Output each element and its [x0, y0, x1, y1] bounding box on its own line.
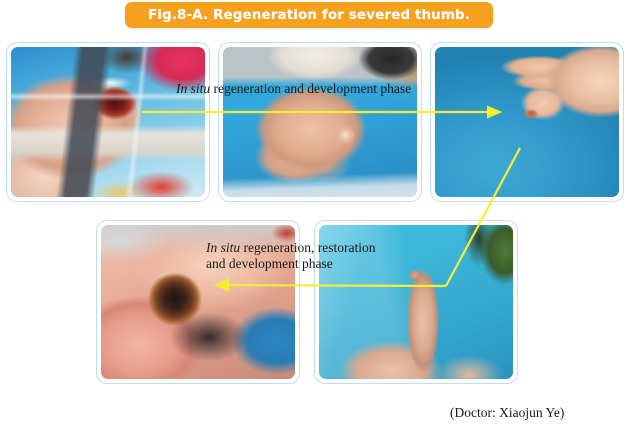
annotation-top: In situ regeneration and development pha…: [176, 81, 411, 97]
annotation-top-italic: In situ: [176, 81, 210, 96]
panel-2-image-container: [223, 47, 417, 197]
photo-healed-thumb-with-nail: [435, 47, 619, 197]
page-title: Fig.8-A. Regeneration for severed thumb.: [148, 7, 470, 23]
annotation-bottom-line2: and development phase: [206, 256, 333, 271]
figure-panel-1: [6, 42, 210, 202]
doctor-credit: (Doctor: Xiaojun Ye): [450, 405, 564, 421]
photo-regenerating-stump: [223, 47, 417, 197]
figure-panel-2: [218, 42, 422, 202]
figure-panel-3: [430, 42, 624, 202]
figure-title-banner: Fig.8-A. Regeneration for severed thumb.: [125, 2, 493, 28]
panel-1-image-container: [11, 47, 205, 197]
annotation-bottom: In situ regeneration, restoration and de…: [206, 240, 451, 273]
annotation-bottom-line1: regeneration, restoration: [240, 240, 375, 255]
annotation-top-text: regeneration and development phase: [210, 81, 411, 96]
annotation-bottom-italic: In situ: [206, 240, 240, 255]
panel-3-image-container: [435, 47, 619, 197]
photo-severed-thumb: [11, 47, 205, 197]
